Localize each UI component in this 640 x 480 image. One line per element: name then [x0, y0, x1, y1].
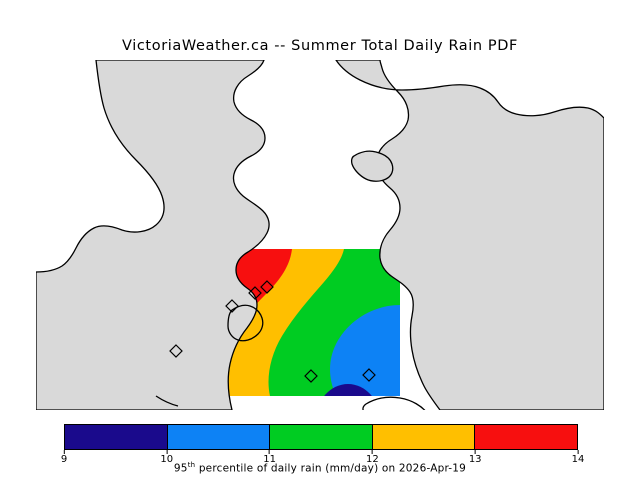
colorbar-segment-0[interactable] — [65, 425, 167, 449]
colorbar-caption-prefix: 95 — [174, 463, 188, 475]
colorbar-caption-rest: percentile of daily rain (mm/day) on 202… — [195, 463, 466, 475]
colorbar-segment-3[interactable] — [372, 425, 475, 449]
page-title: VictoriaWeather.ca -- Summer Total Daily… — [0, 38, 640, 54]
colorbar-caption: 95th percentile of daily rain (mm/day) o… — [0, 461, 640, 475]
weather-map[interactable] — [36, 60, 604, 410]
colorbar-segment-4[interactable] — [474, 425, 577, 449]
colorbar-segment-1[interactable] — [167, 425, 270, 449]
colorbar-segment-2[interactable] — [269, 425, 372, 449]
colorbar[interactable] — [64, 424, 578, 450]
map-panel[interactable] — [36, 60, 604, 410]
